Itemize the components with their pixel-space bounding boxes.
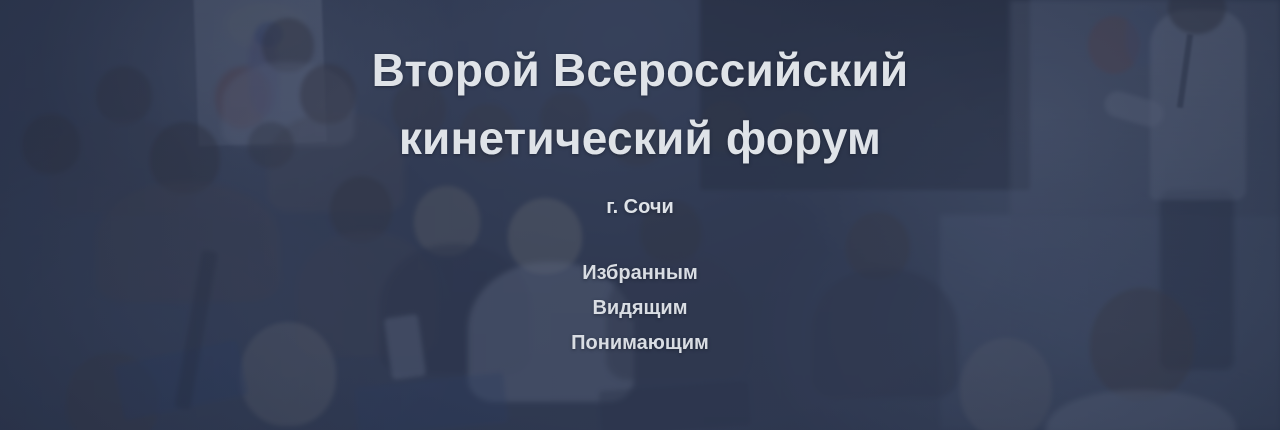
hero-banner: Второй Всероссийский кинетический форум … (0, 0, 1280, 430)
banner-content: Второй Всероссийский кинетический форум … (0, 0, 1280, 430)
page-title-line-1: Второй Всероссийский (372, 36, 909, 104)
page-title: Второй Всероссийский кинетический форум (372, 36, 909, 172)
tagline-item-3: Понимающим (571, 333, 709, 353)
page-title-line-2: кинетический форум (372, 104, 909, 172)
tagline-list: Избранным Видящим Понимающим (571, 263, 709, 353)
event-location: г. Сочи (606, 196, 674, 219)
tagline-item-1: Избранным (571, 263, 709, 283)
tagline-item-2: Видящим (571, 298, 709, 318)
